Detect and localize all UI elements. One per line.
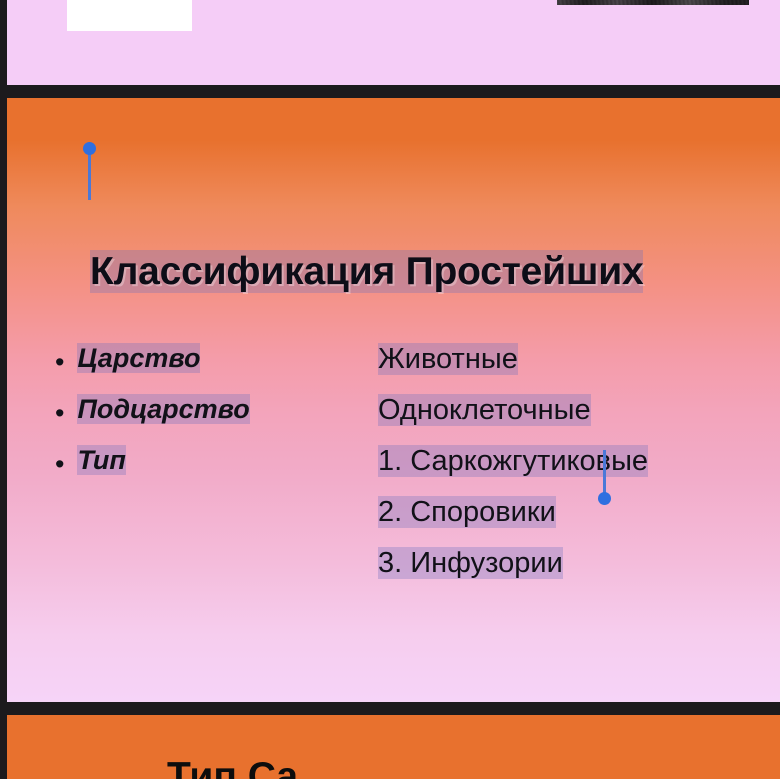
value-sarcomastigophora: 1. Саркожгутиковые [378,445,648,477]
list-item[interactable]: 3. Инфузории [378,547,758,598]
list-item[interactable]: • Подцарство [55,394,355,445]
next-slide[interactable]: Тип Са [7,715,780,779]
value-infusoria: 3. Инфузории [378,547,563,579]
slide-viewer[interactable]: Простейшие Классификация Простейших • Ца… [0,0,780,779]
taxonomy-terms-column: • Царство • Подцарство • Тип [55,343,355,496]
bullet-icon: • [55,343,64,376]
bullet-icon: • [55,445,64,478]
selection-start-knob-icon[interactable] [83,142,96,155]
slide-title-text: Классификация Простейших [90,250,643,293]
list-item[interactable]: Животные [378,343,758,394]
list-item[interactable]: • Царство [55,343,355,394]
current-slide[interactable]: Классификация Простейших • Царство • Под… [7,98,780,702]
selection-start-handle[interactable] [88,152,91,200]
microscope-photo-image [67,0,192,31]
value-animals: Животные [378,343,518,375]
slide-title: Классификация Простейших [90,250,643,294]
next-slide-title: Тип Са [167,755,298,779]
value-sporozoa: 2. Споровики [378,496,556,528]
selection-end-handle[interactable] [603,450,606,495]
list-item[interactable]: Одноклеточные [378,394,758,445]
selection-end-knob-icon[interactable] [598,492,611,505]
taxonomy-values-column: Животные Одноклеточные 1. Саркожгутиковы… [378,343,758,598]
list-item[interactable]: 2. Споровики [378,496,758,547]
value-unicellular: Одноклеточные [378,394,591,426]
term-label-type: Тип [77,445,125,475]
specimen-photo-image [557,0,749,5]
previous-slide[interactable]: Простейшие [7,0,780,85]
list-item[interactable]: 1. Саркожгутиковые [378,445,758,496]
bullet-icon: • [55,394,64,427]
term-label-subkingdom: Подцарство [77,394,249,424]
term-label-kingdom: Царство [77,343,200,373]
list-item[interactable]: • Тип [55,445,355,496]
